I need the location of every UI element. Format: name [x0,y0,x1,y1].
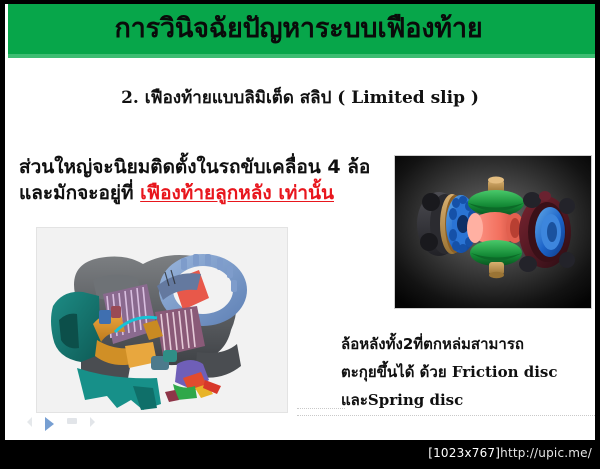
left-body-line-1: ส่วนใหญ่จะนิยมติดตั้งในรถขับเคลื่อน 4 ล้… [19,154,391,180]
image-viewer: การวินิจฉัยปัญหาระบบเฟืองท้าย 2. เฟืองท้… [0,0,600,469]
title-banner-shade [8,54,595,58]
play-icon[interactable] [42,416,56,432]
footer-watermark: [1023x767]http://upic.me/ [428,446,592,460]
slideshow-controls [10,412,140,440]
right-body-line-1: ล้อหลังทั้ง2ที่ตกหล่มสามารถ [341,330,595,358]
left-body-line-2-prefix: และมักจะอยู่ที่ [19,182,140,204]
image-dimensions: [1023x767] [428,446,500,460]
differential-gear-set-figure [395,156,591,308]
presentation-slide: การวินิจฉัยปัญหาระบบเฟืองท้าย 2. เฟืองท้… [5,4,595,440]
limited-slip-differential-figure [37,228,287,412]
right-body-line-3: และSpring disc [341,386,595,414]
gear-set-illustration [395,156,591,308]
previous-slide-icon[interactable] [24,416,36,428]
slide-title: การวินิจฉัยปัญหาระบบเฟืองท้าย [5,8,592,50]
slide-subtitle: 2. เฟืองท้ายแบบลิมิเต็ด สลิป ( Limited s… [5,84,595,111]
next-slide-icon[interactable] [86,416,98,428]
left-body-line-2: และมักจะอยู่ที่ เฟืองท้ายลูกหลัง เท่านั้… [19,180,391,206]
lsd-cutaway-illustration [37,228,287,412]
right-body-text: ล้อหลังทั้ง2ที่ตกหล่มสามารถ ตะกุยขึ้นได้… [341,330,595,414]
image-host-url: http://upic.me/ [500,446,592,460]
right-body-line-2: ตะกุยขึ้นได้ ด้วย Friction disc [341,358,595,386]
slide-menu-icon[interactable] [66,416,78,426]
footer-bar: [1023x767]http://upic.me/ [0,440,600,469]
left-body-line-2-highlight: เฟืองท้ายลูกหลัง เท่านั้น [140,182,334,204]
decorative-dotted-line [297,415,595,416]
left-body-text: ส่วนใหญ่จะนิยมติดตั้งในรถขับเคลื่อน 4 ล้… [19,154,391,206]
decorative-dotted-line-2 [297,408,345,409]
